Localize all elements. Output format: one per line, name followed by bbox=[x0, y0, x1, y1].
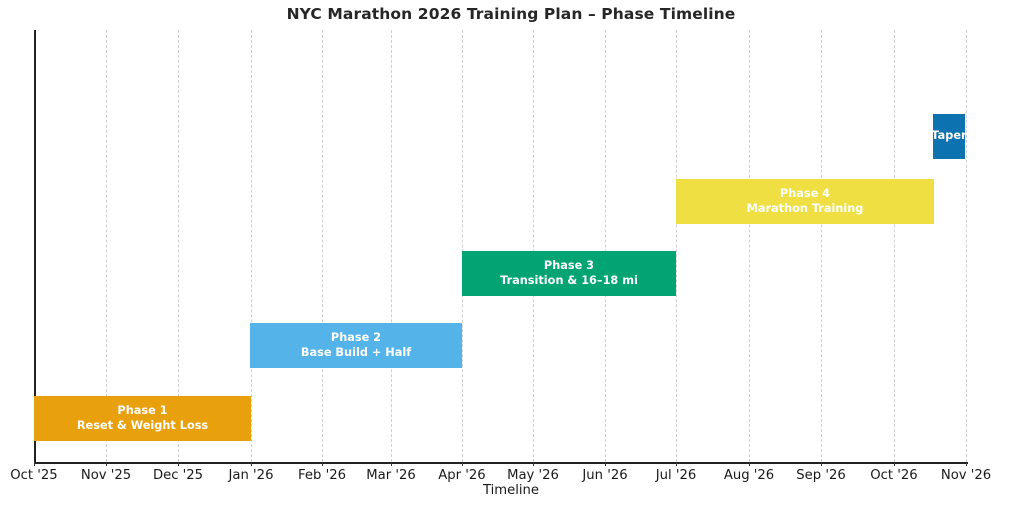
bar-label-clip: Phase 2 Base Build + Half bbox=[250, 323, 462, 368]
bar-label-clip: Taper bbox=[933, 114, 965, 159]
gridline bbox=[605, 30, 606, 462]
x-tick-label: Jun '26 bbox=[582, 468, 627, 483]
x-tick-label: Mar '26 bbox=[366, 468, 415, 483]
gantt-bar-label: Phase 3 Transition & 16–18 mi bbox=[500, 259, 638, 289]
x-tick-label: Aug '26 bbox=[724, 468, 774, 483]
x-tick bbox=[533, 462, 534, 466]
bar-label-line2: Base Build + Half bbox=[301, 346, 411, 359]
x-tick-label: Feb '26 bbox=[298, 468, 346, 483]
gantt-bar-phase-1[interactable]: Phase 1 Reset & Weight Loss bbox=[34, 396, 251, 441]
x-tick bbox=[106, 462, 107, 466]
x-tick bbox=[322, 462, 323, 466]
gantt-bar-phase-2[interactable]: Phase 2 Base Build + Half bbox=[250, 323, 462, 368]
gridline bbox=[821, 30, 822, 462]
bar-label-clip: Phase 1 Reset & Weight Loss bbox=[34, 396, 251, 441]
bar-label-clip: Phase 3 Transition & 16–18 mi bbox=[462, 251, 676, 296]
bar-label-line2: Reset & Weight Loss bbox=[77, 419, 208, 432]
gantt-bar-phase-3[interactable]: Phase 3 Transition & 16–18 mi bbox=[462, 251, 676, 296]
bar-label-line1: Phase 2 bbox=[331, 331, 381, 344]
bar-label-line1: Taper bbox=[933, 129, 965, 142]
x-tick-label: Sep '26 bbox=[796, 468, 845, 483]
x-tick-label: Jul '26 bbox=[656, 468, 697, 483]
gantt-bar-label: Phase 4 Marathon Training bbox=[747, 187, 864, 217]
gantt-bar-label: Phase 2 Base Build + Half bbox=[301, 331, 411, 361]
bar-label-clip: Phase 4 Marathon Training bbox=[676, 179, 934, 224]
x-tick bbox=[605, 462, 606, 466]
x-tick-label: Apr '26 bbox=[438, 468, 485, 483]
bar-label-line2: Transition & 16–18 mi bbox=[500, 274, 638, 287]
x-tick bbox=[391, 462, 392, 466]
x-tick-label: Nov '25 bbox=[81, 468, 131, 483]
x-axis-title: Timeline bbox=[0, 483, 1022, 498]
x-tick bbox=[251, 462, 252, 466]
x-tick bbox=[676, 462, 677, 466]
x-tick bbox=[462, 462, 463, 466]
x-tick bbox=[894, 462, 895, 466]
x-tick-label: Oct '26 bbox=[870, 468, 917, 483]
x-tick-label: Dec '25 bbox=[153, 468, 203, 483]
gridline bbox=[676, 30, 677, 462]
gridline bbox=[966, 30, 967, 462]
x-tick-label: May '26 bbox=[507, 468, 559, 483]
x-tick-label: Oct '25 bbox=[10, 468, 57, 483]
chart-title: NYC Marathon 2026 Training Plan – Phase … bbox=[0, 5, 1022, 23]
x-tick bbox=[966, 462, 967, 466]
x-tick bbox=[821, 462, 822, 466]
x-tick-label: Nov '26 bbox=[941, 468, 991, 483]
x-tick bbox=[178, 462, 179, 466]
gridline bbox=[749, 30, 750, 462]
gantt-bar-phase-4[interactable]: Phase 4 Marathon Training bbox=[676, 179, 934, 224]
gantt-bar-label: Taper bbox=[933, 129, 965, 144]
gridline bbox=[251, 30, 252, 462]
x-tick-label: Jan '26 bbox=[229, 468, 274, 483]
x-tick bbox=[749, 462, 750, 466]
gridline bbox=[462, 30, 463, 462]
gantt-chart: NYC Marathon 2026 Training Plan – Phase … bbox=[0, 0, 1022, 507]
gridline bbox=[894, 30, 895, 462]
gridline bbox=[533, 30, 534, 462]
gantt-bar-taper[interactable]: Taper bbox=[933, 114, 965, 159]
x-tick bbox=[34, 462, 35, 466]
bar-label-line1: Phase 3 bbox=[544, 259, 594, 272]
bar-label-line1: Phase 1 bbox=[117, 404, 167, 417]
bar-label-line2: Marathon Training bbox=[747, 202, 864, 215]
x-axis-spine bbox=[34, 462, 968, 464]
gantt-bar-label: Phase 1 Reset & Weight Loss bbox=[77, 404, 208, 434]
bar-label-line1: Phase 4 bbox=[780, 187, 830, 200]
gridline bbox=[391, 30, 392, 462]
gridline bbox=[322, 30, 323, 462]
